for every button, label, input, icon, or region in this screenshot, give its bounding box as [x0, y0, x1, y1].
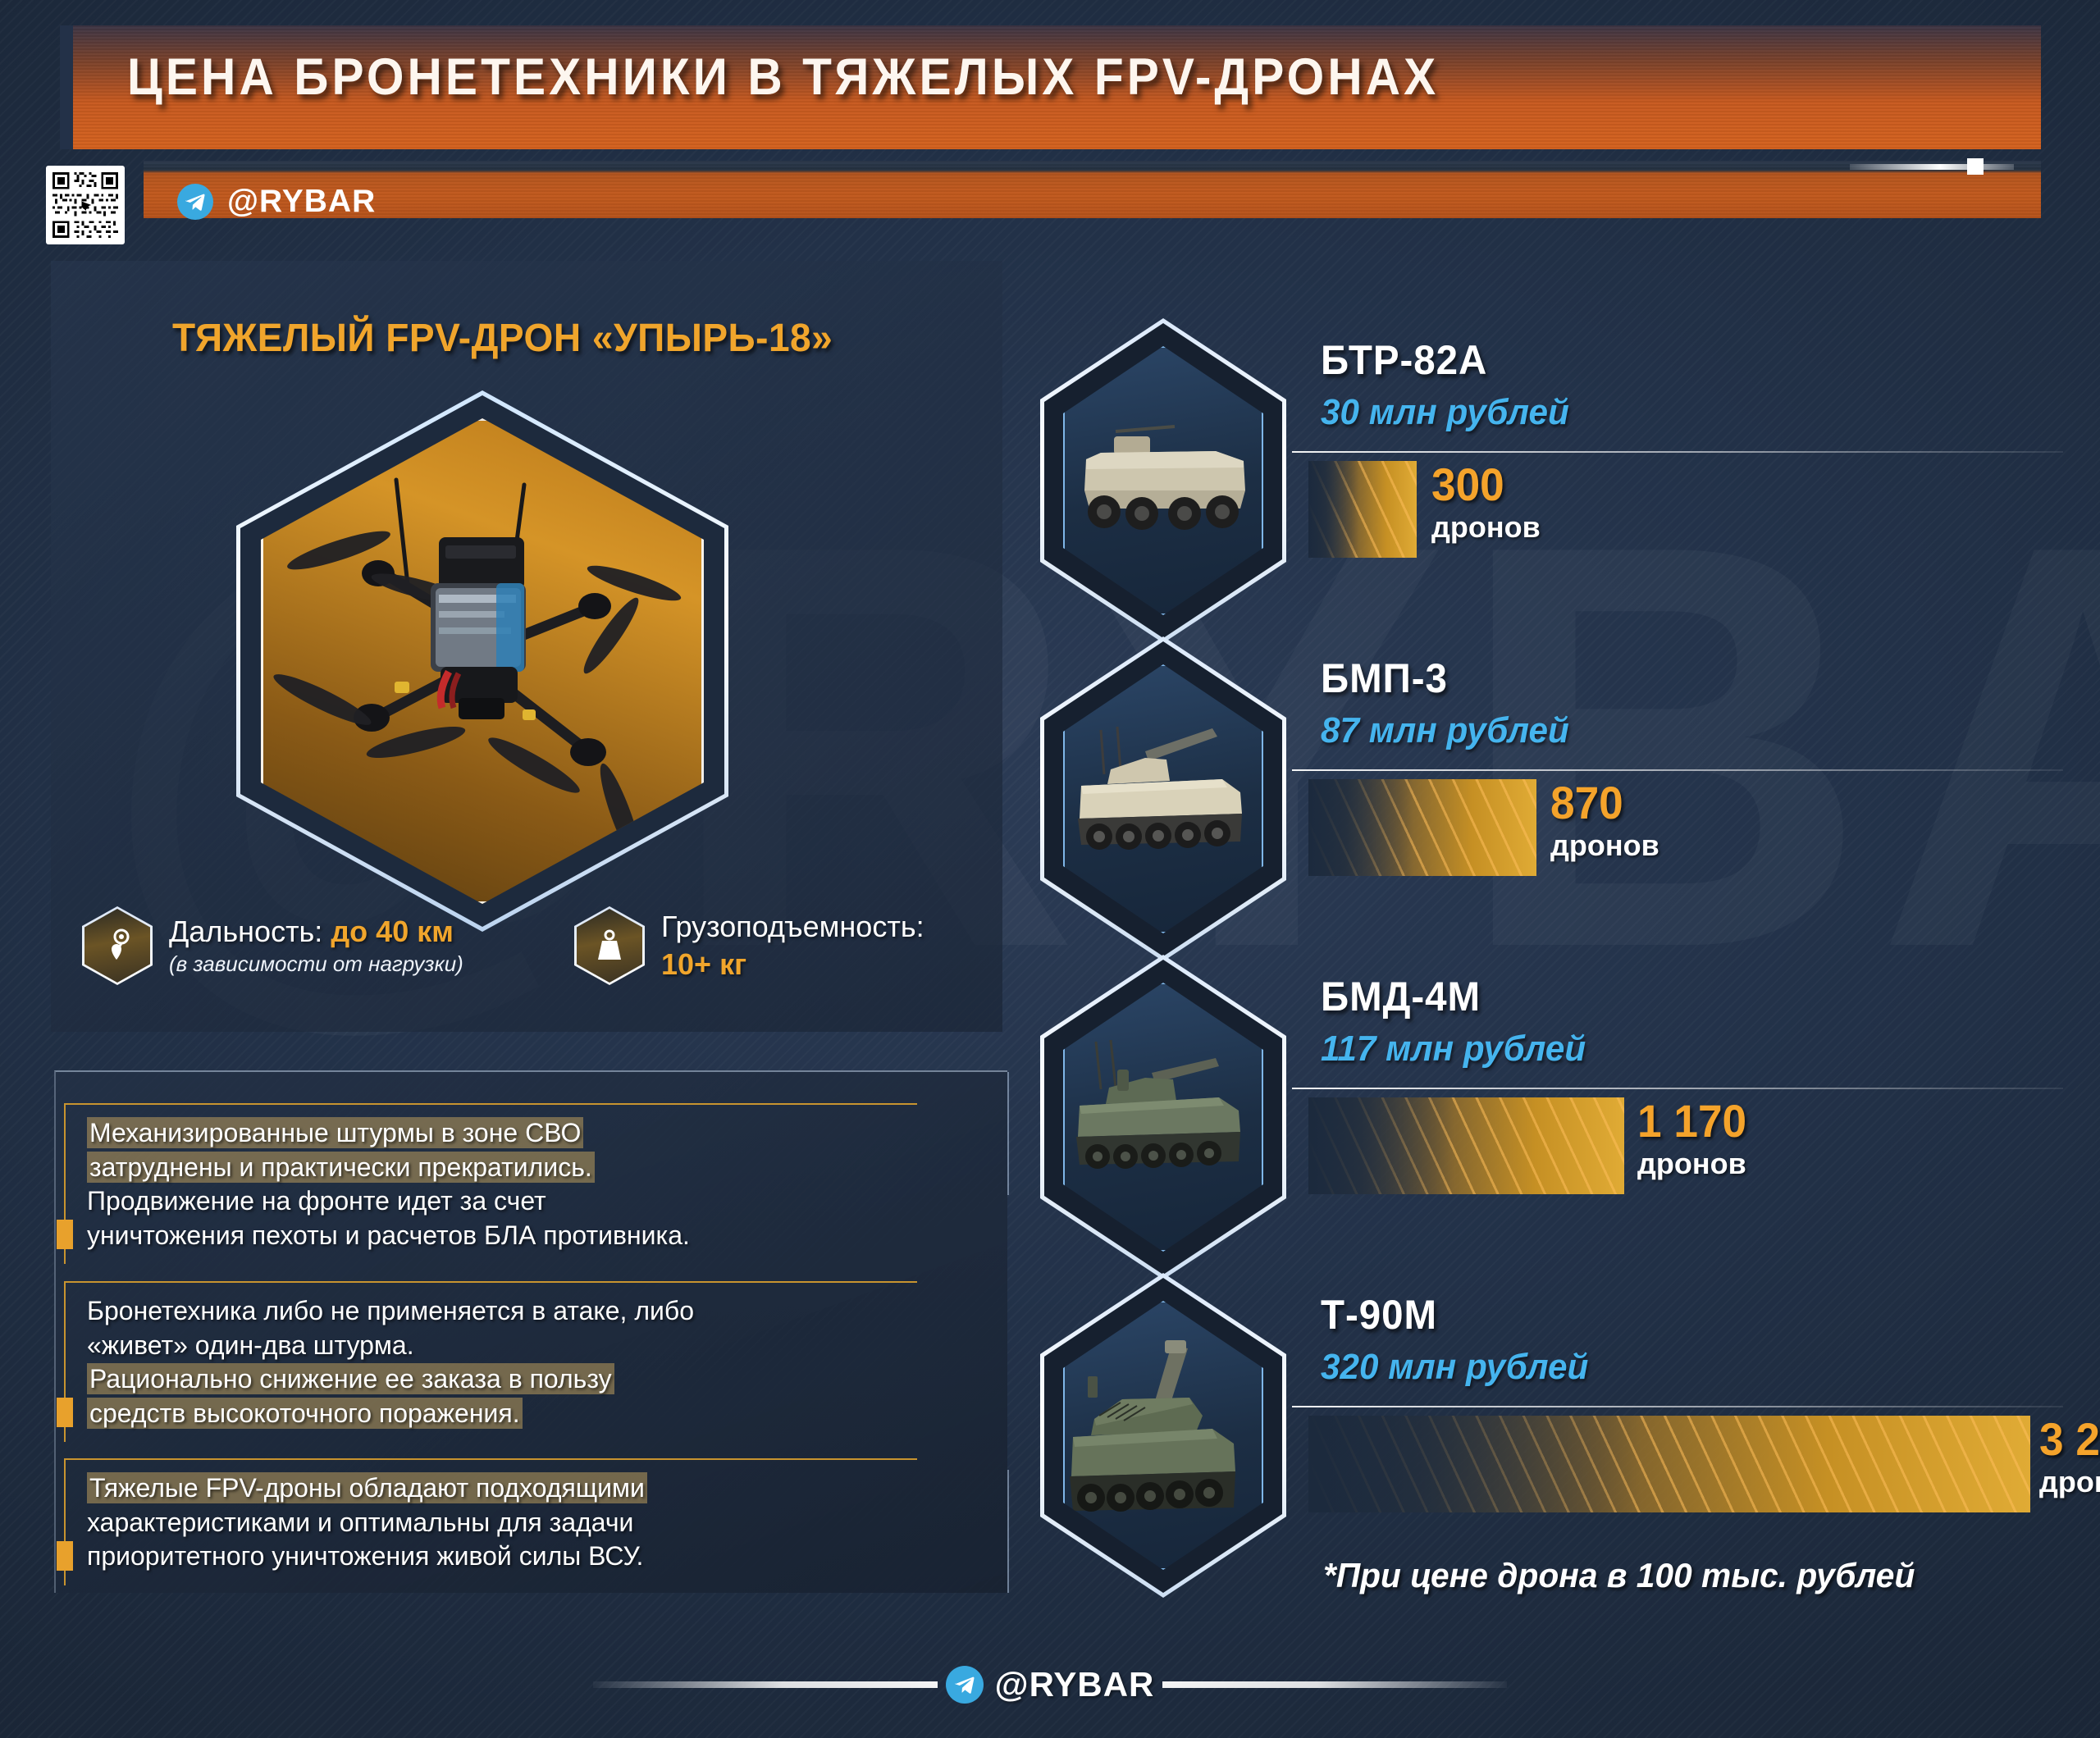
vehicle-name: БМД-4М: [1321, 973, 1481, 1020]
spec-range-note: (в зависимости от нагрузки): [169, 951, 463, 977]
vehicle-divider: [1292, 1406, 2063, 1407]
vehicle-divider: [1292, 769, 2063, 771]
vehicle-bar: [1308, 1097, 1624, 1194]
spec-range: Дальность: до 40 км (в зависимости от на…: [82, 906, 463, 985]
vehicle-bar: [1308, 779, 1536, 876]
footer-rule-left: [593, 1681, 938, 1688]
vehicle-price: 30 млн рублей: [1321, 392, 1569, 433]
vehicle-drone-unit: дронов: [1550, 828, 1659, 863]
bullet-line: затруднены и практически прекратились.: [87, 1151, 917, 1185]
vehicle-bar: [1308, 1416, 2030, 1512]
header-dash-accent: [1850, 164, 2014, 170]
footer-rule-right: [1162, 1681, 1507, 1688]
bullet-line: «живет» один-два штурма.: [87, 1329, 917, 1363]
vehicle-photo-hexagon: [1040, 955, 1286, 1280]
bullet-item: Бронетехника либо не применяется в атаке…: [64, 1281, 917, 1442]
footer-channel-handle: @RYBAR: [995, 1665, 1155, 1704]
map-pin-icon: [84, 909, 150, 983]
vehicle-photo-hexagon: [1040, 636, 1286, 961]
spec-payload: Грузоподъемность: 10+ кг: [574, 906, 924, 985]
vehicle-drone-count: 1 170: [1637, 1094, 1746, 1147]
bullet-marker: [57, 1398, 73, 1427]
vehicle-photo-hexagon: [1040, 318, 1286, 643]
bullet-line: Тяжелые FPV-дроны обладают подходящими: [87, 1471, 917, 1506]
spec-payload-badge: [574, 906, 645, 985]
footer: @RYBAR: [0, 1663, 2100, 1706]
bullet-line: Продвижение на фронте идет за счет: [87, 1184, 917, 1219]
bar-fade: [1308, 1416, 1641, 1512]
vehicle-drone-unit: дронов: [1637, 1147, 1746, 1181]
bullet-line: характеристиками и оптимальны для задачи: [87, 1506, 917, 1540]
vehicle-bar: [1308, 461, 1417, 558]
page-title: ЦЕНА БРОНЕТЕХНИКИ В ТЯЖЕЛЫХ FPV-ДРОНАХ: [127, 48, 1439, 107]
channel-handle: @RYBAR: [227, 184, 376, 220]
vehicle-name: БМП-3: [1321, 655, 1448, 702]
header-left-accent: [60, 25, 73, 149]
vehicle-drone-count: 3 200: [2039, 1412, 2100, 1466]
spec-range-label: Дальность:: [169, 915, 322, 948]
vehicle-photo-hexagon: [1040, 1273, 1286, 1598]
vehicle-name: Т-90М: [1321, 1291, 1437, 1339]
vehicle-drone-unit: дронов: [2039, 1465, 2100, 1499]
bullet-line: Рационально снижение ее заказа в пользу: [87, 1362, 917, 1397]
header-dash-box: [1967, 158, 1984, 175]
weight-icon: [577, 909, 642, 983]
drone-panel-title: ТЯЖЕЛЫЙ FPV-ДРОН «УПЫРЬ-18»: [172, 316, 833, 361]
spec-range-value: до 40 км: [331, 915, 454, 948]
bullet-line: средств высокоточного поражения.: [87, 1397, 917, 1431]
vehicle-divider: [1292, 451, 2063, 453]
infographic-canvas: @RYBAR ЦЕНА БРОНЕТЕХНИКИ В ТЯЖЕЛЫХ FPV-Д…: [0, 0, 2100, 1738]
vehicle-drone-count: 870: [1550, 776, 1623, 829]
spec-range-text: Дальность: до 40 км: [169, 915, 463, 949]
bullet-line: приоритетного уничтожения живой силы ВСУ…: [87, 1540, 917, 1574]
vehicle-price: 87 млн рублей: [1321, 710, 1569, 751]
vehicle-drone-unit: дронов: [1431, 510, 1541, 545]
bar-fade: [1308, 1097, 1454, 1194]
qr-code-icon[interactable]: [46, 166, 125, 244]
footer-channel[interactable]: @RYBAR: [938, 1665, 1163, 1704]
bullet-item: Тяжелые FPV-дроны обладают подходящими х…: [64, 1458, 917, 1585]
vehicle-price: 117 млн рублей: [1321, 1029, 1586, 1070]
bullet-marker: [57, 1541, 73, 1571]
telegram-icon: [177, 184, 213, 220]
bar-fade: [1308, 779, 1413, 876]
vehicle-drone-count: 300: [1431, 458, 1504, 511]
vehicle-divider: [1292, 1088, 2063, 1089]
bullet-line: Бронетехника либо не применяется в атаке…: [87, 1294, 917, 1329]
channel-band-texture: [144, 161, 2041, 218]
bullet-marker: [57, 1220, 73, 1249]
bar-fade: [1308, 461, 1358, 558]
vehicle-name: БТР-82А: [1321, 336, 1487, 384]
vehicle-price: 320 млн рублей: [1321, 1347, 1588, 1388]
telegram-channel-link[interactable]: @RYBAR: [177, 184, 376, 220]
price-footnote: *При цене дрона в 100 тыс. рублей: [1323, 1556, 1915, 1595]
bullet-line: уничтожения пехоты и расчетов БЛА против…: [87, 1219, 917, 1253]
bullet-item: Механизированные штурмы в зоне СВО затру…: [64, 1103, 917, 1264]
spec-payload-value: 10+ кг: [661, 947, 924, 982]
spec-range-badge: [82, 906, 153, 985]
telegram-icon: [946, 1666, 984, 1704]
channel-band: [144, 161, 2041, 218]
spec-payload-label: Грузоподъемность:: [661, 910, 924, 944]
bullet-line: Механизированные штурмы в зоне СВО: [87, 1116, 917, 1151]
